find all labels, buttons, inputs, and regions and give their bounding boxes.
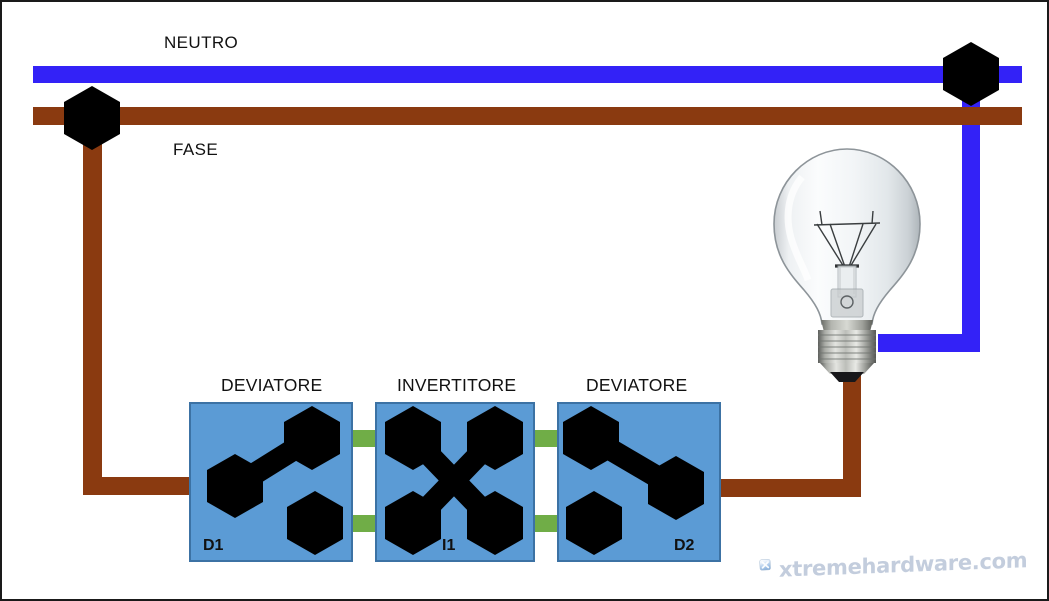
phase-drop-vertical: [83, 116, 102, 482]
diagram-canvas: NEUTRO FASE DEVIATORE INVERTITORE DEVIAT…: [0, 0, 1049, 601]
label-deviatore-right: DEVIATORE: [586, 375, 687, 396]
terminal-phase-tap[interactable]: [64, 86, 120, 150]
label-neutro: NEUTRO: [164, 33, 238, 53]
watermark: xtremehardware.com: [759, 536, 1027, 594]
neutral-to-lamp-horizontal: [878, 334, 980, 352]
label-invertitore: INVERTITORE: [397, 375, 516, 396]
label-box-d2: D2: [674, 537, 694, 555]
label-box-d1: D1: [203, 537, 223, 555]
x-logo-icon: [759, 537, 772, 593]
label-deviatore-left: DEVIATORE: [221, 375, 322, 396]
bulb-press: [831, 289, 863, 317]
watermark-text: xtremehardware.com: [779, 548, 1027, 582]
neutral-rail: [33, 66, 1022, 83]
label-box-i1: I1: [442, 537, 455, 555]
bulb-screw-cap: [818, 330, 876, 382]
terminal-neutral-tap[interactable]: [943, 42, 999, 106]
label-fase: FASE: [173, 140, 218, 160]
wiring-diagram-svg: [2, 2, 1049, 601]
phase-rail: [33, 107, 1022, 125]
